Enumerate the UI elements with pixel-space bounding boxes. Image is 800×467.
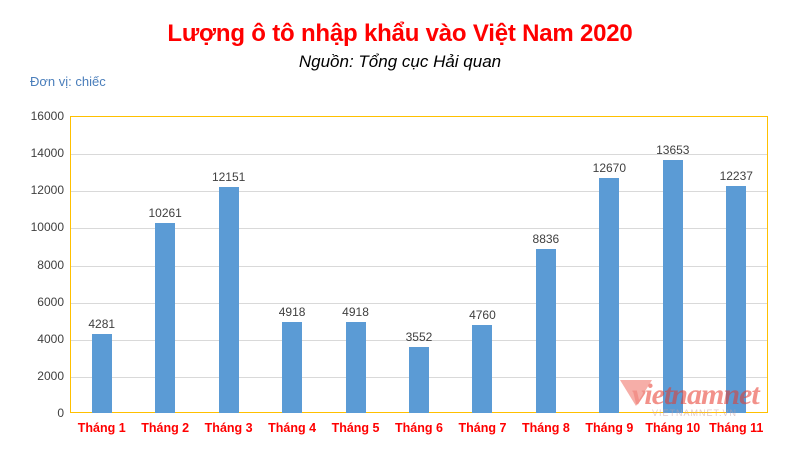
y-axis-tick-label: 10000 <box>4 220 64 234</box>
gridline <box>71 340 767 341</box>
chart-screenshot: Lượng ô tô nhập khẩu vào Việt Nam 2020 N… <box>0 0 800 467</box>
chart-subtitle: Nguồn: Tổng cục Hải quan <box>0 52 800 72</box>
x-axis-tick-label: Tháng 2 <box>133 421 196 435</box>
gridline <box>71 228 767 229</box>
plot-area <box>70 116 768 413</box>
y-axis-tick-label: 8000 <box>4 258 64 272</box>
x-axis-tick-label: Tháng 1 <box>70 421 133 435</box>
y-axis-tick-label: 4000 <box>4 332 64 346</box>
axis-unit-label: Đơn vị: chiếc <box>30 74 106 89</box>
x-axis-tick-label: Tháng 11 <box>705 421 768 435</box>
gridline <box>71 266 767 267</box>
x-axis-tick-label: Tháng 10 <box>641 421 704 435</box>
gridline <box>71 154 767 155</box>
x-axis-tick-label: Tháng 9 <box>578 421 641 435</box>
x-axis-tick-label: Tháng 7 <box>451 421 514 435</box>
x-axis-tick-label: Tháng 6 <box>387 421 450 435</box>
y-axis-tick-label: 12000 <box>4 183 64 197</box>
y-axis-tick-label: 2000 <box>4 369 64 383</box>
y-axis-tick-label: 14000 <box>4 146 64 160</box>
x-axis-tick-label: Tháng 4 <box>260 421 323 435</box>
x-axis: Tháng 1Tháng 2Tháng 3Tháng 4Tháng 5Tháng… <box>70 421 768 443</box>
x-axis-tick-label: Tháng 5 <box>324 421 387 435</box>
chart-title: Lượng ô tô nhập khẩu vào Việt Nam 2020 <box>0 20 800 48</box>
y-axis: 0200040006000800010000120001400016000 <box>0 116 64 413</box>
y-axis-tick-label: 0 <box>4 406 64 420</box>
y-axis-tick-label: 16000 <box>4 109 64 123</box>
gridline <box>71 191 767 192</box>
gridline <box>71 303 767 304</box>
x-axis-tick-label: Tháng 3 <box>197 421 260 435</box>
gridline <box>71 377 767 378</box>
x-axis-tick-label: Tháng 8 <box>514 421 577 435</box>
y-axis-tick-label: 6000 <box>4 295 64 309</box>
